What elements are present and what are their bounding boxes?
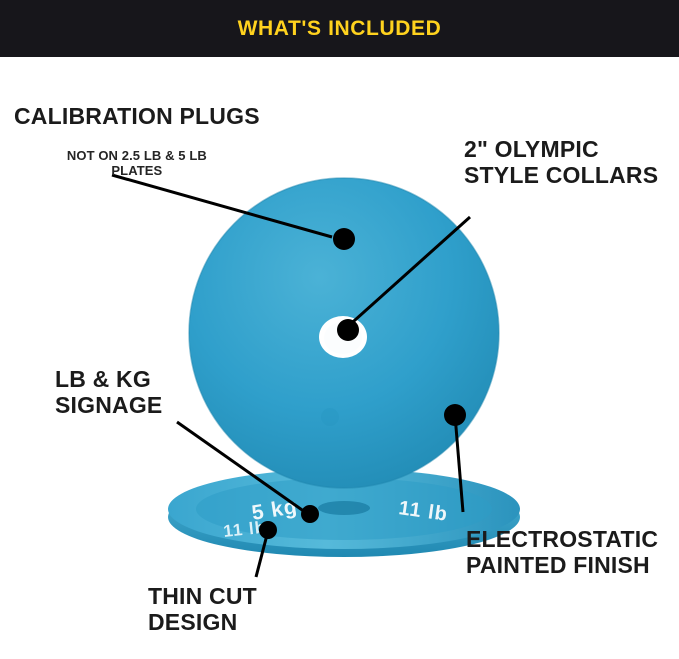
dot-thin-cut-design [259, 521, 277, 539]
callout-lb-kg-signage: LB & KG SIGNAGE [55, 367, 162, 419]
diagram-area: 5 kg 11 lb 11 lb [0, 57, 679, 659]
callout-electrostatic-line-1: ELECTROSTATIC [466, 527, 658, 553]
product-feature-infographic: WHAT'S INCLUDED [0, 0, 679, 659]
callout-electrostatic-finish: ELECTROSTATIC PAINTED FINISH [466, 527, 658, 579]
page-title: WHAT'S INCLUDED [238, 17, 442, 41]
callout-calibration-subtitle-line-1: NOT ON 2.5 LB & 5 LB [14, 148, 260, 164]
dot-calibration-plugs [333, 228, 355, 250]
callout-signage-line-1: LB & KG [55, 367, 162, 393]
callout-olympic-collars: 2" OLYMPIC STYLE COLLARS [464, 137, 658, 189]
callout-thincut-line-2: DESIGN [148, 610, 257, 636]
dot-electrostatic-finish [444, 404, 466, 426]
callout-collars-line-1: 2" OLYMPIC [464, 137, 658, 163]
dot-lb-kg-signage [301, 505, 319, 523]
callout-calibration-title: CALIBRATION PLUGS [14, 104, 260, 130]
callout-calibration-plugs: CALIBRATION PLUGS NOT ON 2.5 LB & 5 LB P… [14, 104, 260, 179]
callout-signage-line-2: SIGNAGE [55, 393, 162, 419]
callout-thincut-line-1: THIN CUT [148, 584, 257, 610]
callout-collars-line-2: STYLE COLLARS [464, 163, 658, 189]
callout-calibration-subtitle-line-2: PLATES [14, 163, 260, 179]
header-banner: WHAT'S INCLUDED [0, 0, 679, 57]
callout-thin-cut-design: THIN CUT DESIGN [148, 584, 257, 636]
callout-electrostatic-line-2: PAINTED FINISH [466, 553, 658, 579]
dot-olympic-collars [337, 319, 359, 341]
